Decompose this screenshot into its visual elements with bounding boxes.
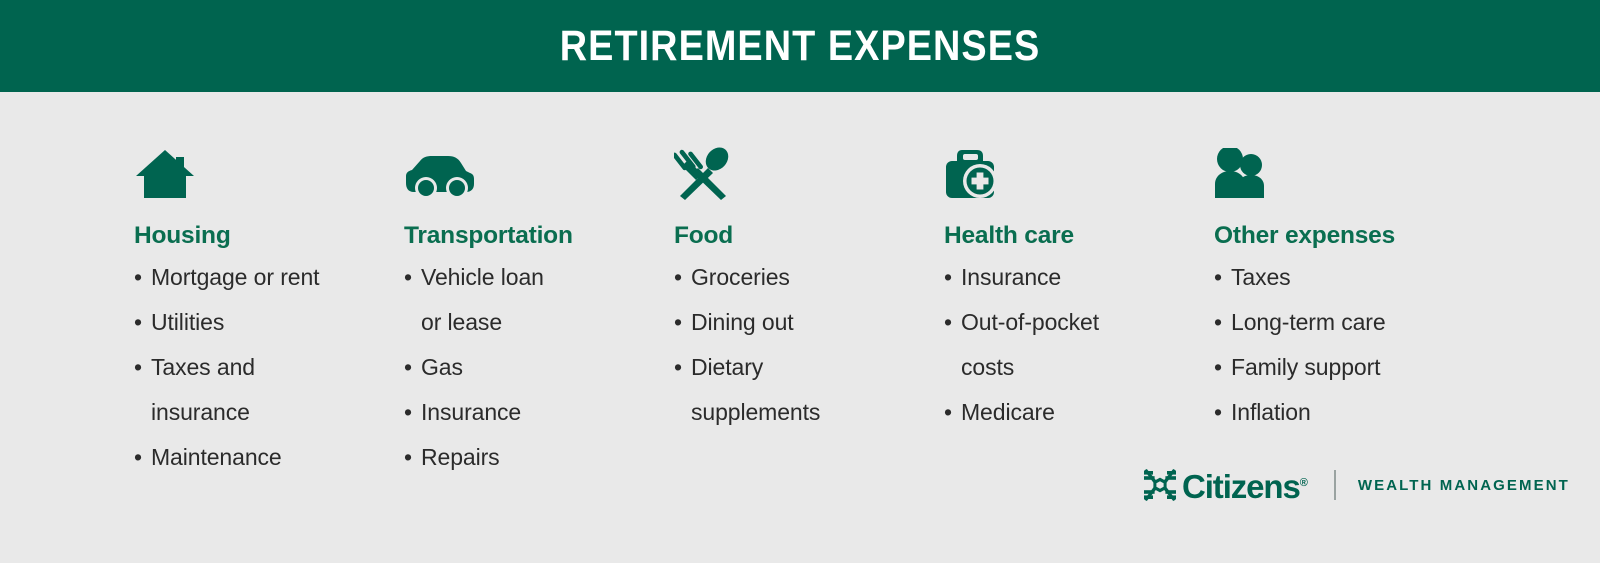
expense-column-housing: Housing •Mortgage or rent •Utilities •Ta… xyxy=(134,138,404,480)
list-item-line2: or lease xyxy=(421,300,674,345)
list-item-line1: Insurance xyxy=(421,399,521,425)
bullet-dot: • xyxy=(944,300,952,345)
expense-list: •Mortgage or rent •Utilities •Taxes andi… xyxy=(134,255,404,480)
bullet-dot: • xyxy=(404,435,412,480)
list-item-line1: Medicare xyxy=(961,399,1055,425)
car-icon xyxy=(404,138,674,200)
expense-list: •Vehicle loanor lease •Gas •Insurance •R… xyxy=(404,255,674,480)
medical-kit-icon xyxy=(944,138,1214,200)
list-item-line1: Maintenance xyxy=(151,444,282,470)
list-item: •Dining out xyxy=(674,300,944,345)
bullet-dot: • xyxy=(674,300,682,345)
list-item-line1: Out-of-pocket xyxy=(961,309,1099,335)
list-item-line1: Utilities xyxy=(151,309,224,335)
list-item: •Groceries xyxy=(674,255,944,300)
bullet-dot: • xyxy=(674,345,682,390)
expense-column-food: Food •Groceries •Dining out •Dietarysupp… xyxy=(674,138,944,480)
list-item: •Vehicle loanor lease xyxy=(404,255,674,345)
bullet-dot: • xyxy=(404,255,412,300)
column-heading: Transportation xyxy=(404,222,674,250)
list-item: •Repairs xyxy=(404,435,674,480)
list-item-line1: Taxes xyxy=(1231,264,1291,290)
list-item-line2: insurance xyxy=(151,390,404,435)
wordmark-text: Citizens xyxy=(1182,468,1300,505)
list-item: •Mortgage or rent xyxy=(134,255,404,300)
list-item-line1: Dietary xyxy=(691,354,763,380)
expense-columns: Housing •Mortgage or rent •Utilities •Ta… xyxy=(134,138,1534,480)
bullet-dot: • xyxy=(1214,345,1222,390)
column-heading: Housing xyxy=(134,222,404,250)
list-item-line1: Mortgage or rent xyxy=(151,264,319,290)
list-item-line1: Inflation xyxy=(1231,399,1311,425)
bullet-dot: • xyxy=(134,435,142,480)
fork-and-spoon-icon xyxy=(674,138,944,200)
house-icon xyxy=(134,138,404,200)
logo-divider xyxy=(1334,470,1336,500)
list-item: •Taxes xyxy=(1214,255,1484,300)
list-item: •Out-of-pocketcosts xyxy=(944,300,1214,390)
registered-trademark: ® xyxy=(1300,477,1308,489)
bullet-dot: • xyxy=(944,390,952,435)
header-banner: RETIREMENT EXPENSES xyxy=(0,0,1600,92)
list-item-line1: Family support xyxy=(1231,354,1380,380)
list-item: •Gas xyxy=(404,345,674,390)
expense-column-other-expenses: Other expenses •Taxes •Long-term care •F… xyxy=(1214,138,1484,480)
bullet-dot: • xyxy=(1214,255,1222,300)
list-item-line1: Groceries xyxy=(691,264,790,290)
list-item: •Insurance xyxy=(944,255,1214,300)
bullet-dot: • xyxy=(674,255,682,300)
citizens-wordmark: Citizens® xyxy=(1182,470,1308,503)
bullet-dot: • xyxy=(404,345,412,390)
bullet-dot: • xyxy=(404,390,412,435)
list-item: •Taxes andinsurance xyxy=(134,345,404,435)
page-title: RETIREMENT EXPENSES xyxy=(560,22,1041,71)
list-item-line2: costs xyxy=(961,345,1214,390)
citizens-pinwheel-icon xyxy=(1143,469,1177,501)
bullet-dot: • xyxy=(134,345,142,390)
list-item-line1: Insurance xyxy=(961,264,1061,290)
column-heading: Health care xyxy=(944,222,1214,250)
list-item: •Utilities xyxy=(134,300,404,345)
two-people-icon xyxy=(1214,138,1484,200)
list-item-line1: Taxes and xyxy=(151,354,255,380)
bullet-dot: • xyxy=(1214,390,1222,435)
list-item-line1: Gas xyxy=(421,354,463,380)
bullet-dot: • xyxy=(134,300,142,345)
list-item: •Family support xyxy=(1214,345,1484,390)
subbrand-label: WEALTH MANAGEMENT xyxy=(1358,477,1570,494)
list-item-line1: Long-term care xyxy=(1231,309,1386,335)
expense-list: •Groceries •Dining out •Dietarysupplemen… xyxy=(674,255,944,435)
list-item-line1: Repairs xyxy=(421,444,500,470)
bullet-dot: • xyxy=(1214,300,1222,345)
list-item-line1: Dining out xyxy=(691,309,794,335)
list-item: •Insurance xyxy=(404,390,674,435)
list-item-line2: supplements xyxy=(691,390,944,435)
bullet-dot: • xyxy=(944,255,952,300)
expense-list: •Taxes •Long-term care •Family support •… xyxy=(1214,255,1484,435)
infographic-page: RETIREMENT EXPENSES Housing •Mortgage or… xyxy=(0,0,1600,563)
column-heading: Other expenses xyxy=(1214,222,1484,250)
list-item-line1: Vehicle loan xyxy=(421,264,544,290)
bullet-dot: • xyxy=(134,255,142,300)
list-item: •Long-term care xyxy=(1214,300,1484,345)
expense-list: •Insurance •Out-of-pocketcosts •Medicare xyxy=(944,255,1214,435)
list-item: •Medicare xyxy=(944,390,1214,435)
list-item: •Inflation xyxy=(1214,390,1484,435)
column-heading: Food xyxy=(674,222,944,250)
expense-column-health-care: Health care •Insurance •Out-of-pocketcos… xyxy=(944,138,1214,480)
list-item: •Maintenance xyxy=(134,435,404,480)
expense-column-transportation: Transportation •Vehicle loanor lease •Ga… xyxy=(404,138,674,480)
brand-logo: Citizens® WEALTH MANAGEMENT xyxy=(1143,466,1570,504)
list-item: •Dietarysupplements xyxy=(674,345,944,435)
